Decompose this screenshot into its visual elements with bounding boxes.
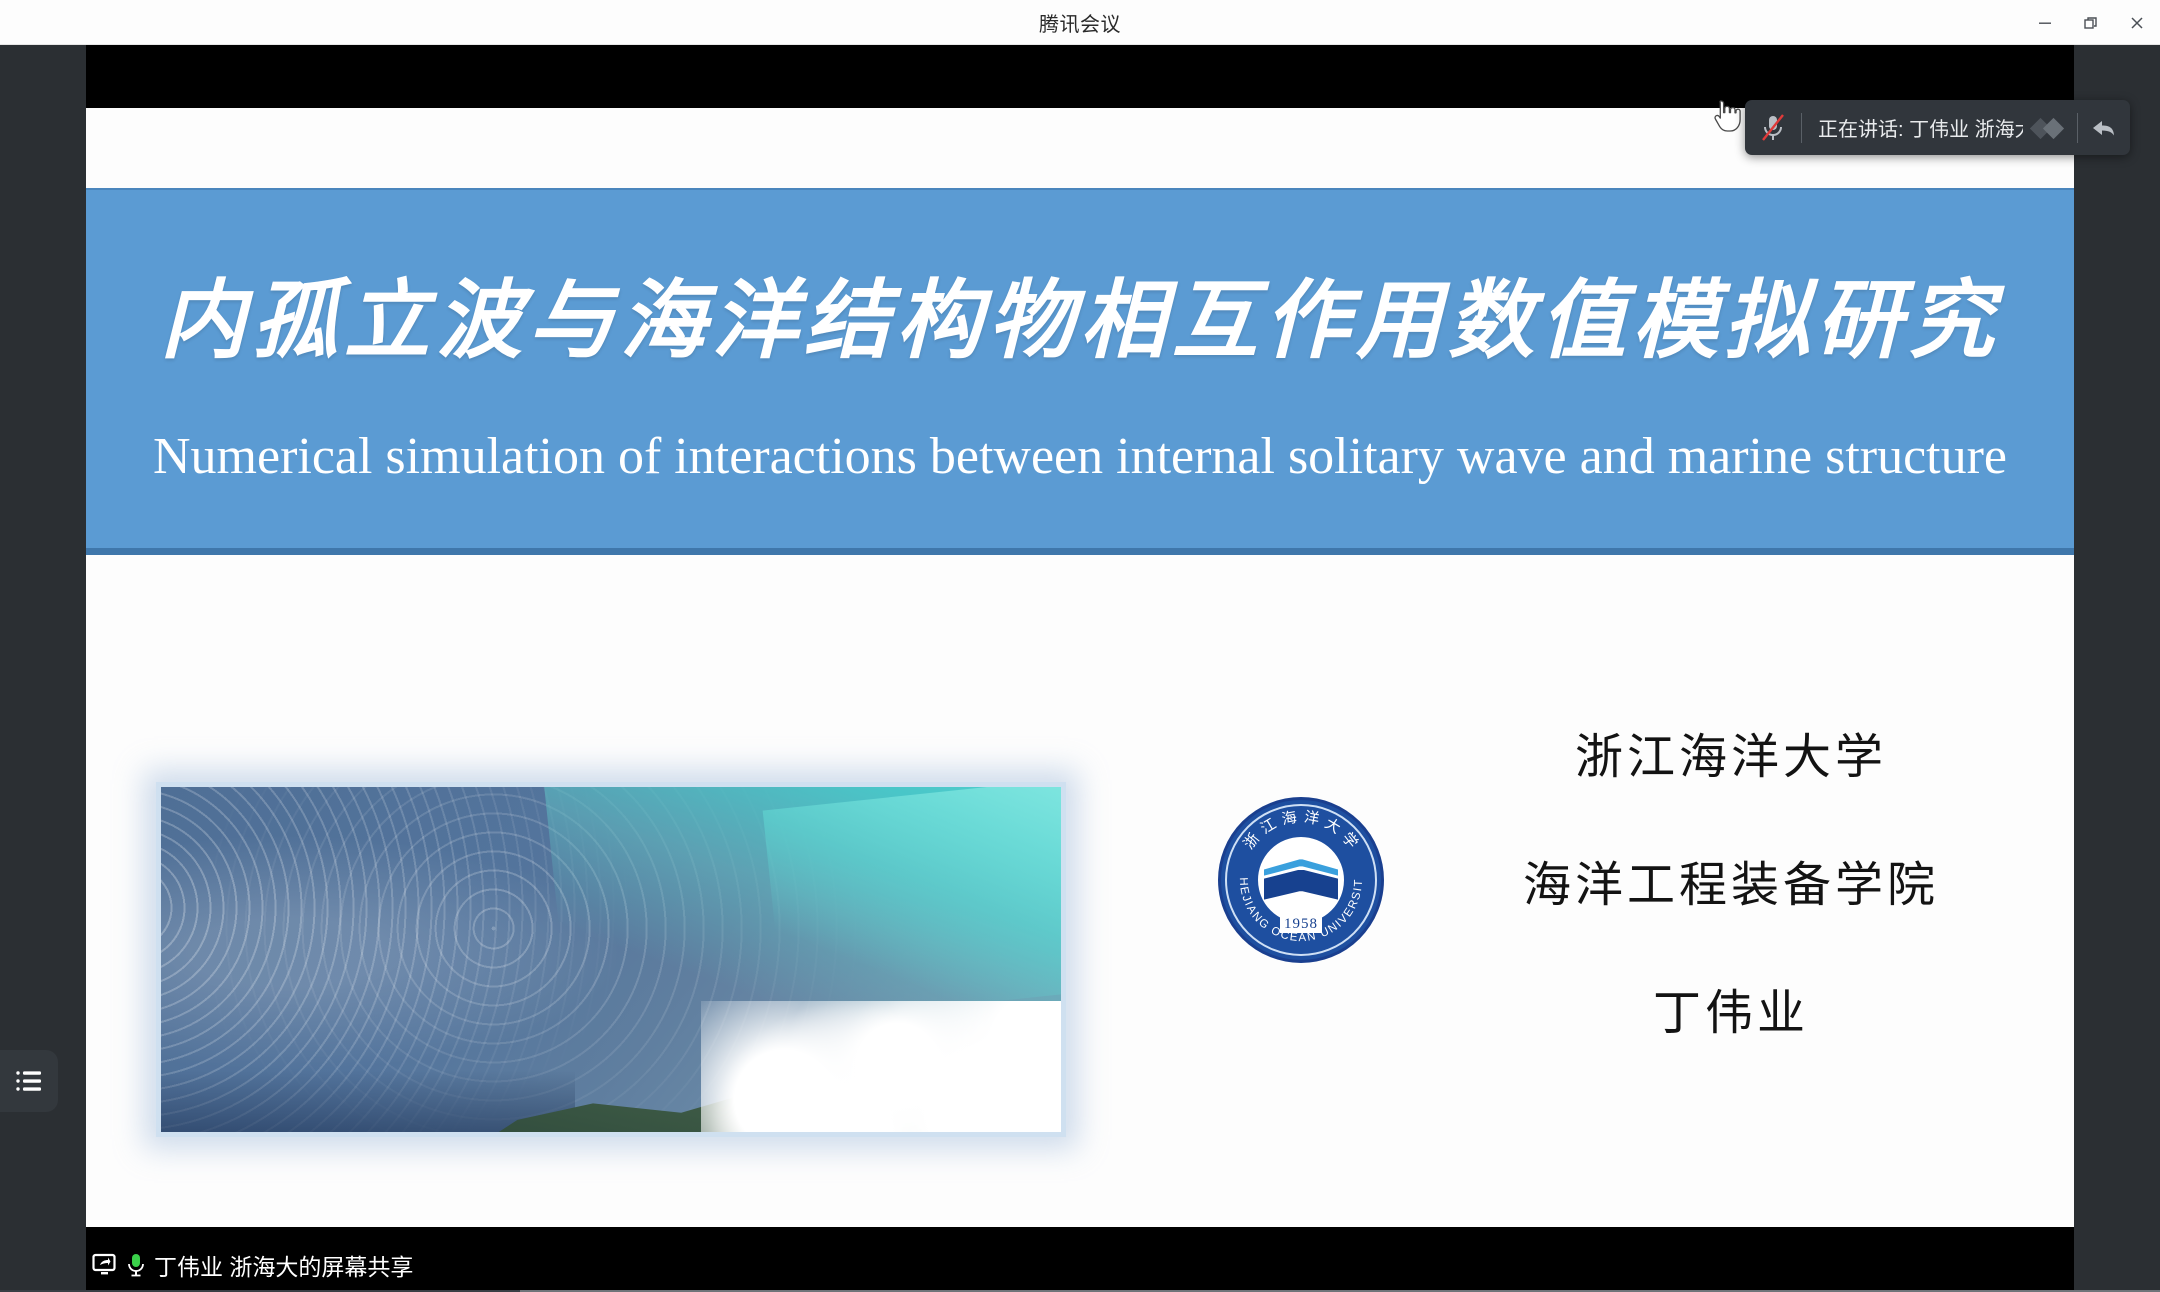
minimize-button[interactable] (2022, 0, 2068, 45)
affiliation-presenter: 丁伟业 (1653, 973, 1809, 1043)
collapse-diamond-icon (2030, 113, 2070, 143)
screen-share-label: 丁伟业 浙海大的屏幕共享 (154, 1248, 413, 1282)
presentation-slide: 内孤立波与海洋结构物相互作用数值模拟研究 Numerical simulatio… (86, 108, 2074, 1227)
right-chrome-rail (2074, 45, 2160, 1292)
deep-water-shading (161, 1070, 575, 1132)
affiliation-block: 浙 江 海 洋 大 学 ZHEJIANG OCEAN UNIVERSITY (1186, 717, 2046, 1043)
mic-mute-indicator[interactable] (1745, 112, 1801, 144)
shallow-water-shelf-bright (763, 787, 1061, 1023)
internal-solitary-wave-satellite-photo (161, 787, 1061, 1132)
seal-book-icon (1264, 854, 1338, 900)
affiliation-lines: 浙江海洋大学 海洋工程装备学院 丁伟业 (1416, 717, 2046, 1043)
speaking-label: 正在讲话: 丁伟业 浙海大; (1802, 113, 2023, 142)
outline-list-icon (14, 1068, 44, 1094)
shared-screen-letterbox-top (86, 45, 2074, 108)
restore-button[interactable] (2068, 0, 2114, 45)
window-titlebar: 腾讯会议 (0, 0, 2160, 45)
slide-body: 浙 江 海 洋 大 学 ZHEJIANG OCEAN UNIVERSITY (86, 562, 2074, 1227)
cloud-cover (701, 1001, 1061, 1132)
minimize-icon (2036, 14, 2054, 32)
floating-speaker-toolbar[interactable]: 正在讲话: 丁伟业 浙海大; (1745, 100, 2130, 155)
microphone-muted-icon (1758, 112, 1788, 144)
slide-title-english: Numerical simulation of interactions bet… (153, 427, 2007, 486)
seal-year: 1958 (1280, 916, 1322, 933)
pointing-hand-cursor (1709, 98, 1743, 138)
close-icon (2128, 14, 2146, 32)
screen-share-status-bar: 丁伟业 浙海大的屏幕共享 (86, 1227, 2074, 1292)
slide-title-band: 内孤立波与海洋结构物相互作用数值模拟研究 Numerical simulatio… (86, 188, 2074, 555)
slide-title-chinese: 内孤立波与海洋结构物相互作用数值模拟研究 (160, 274, 2000, 369)
affiliation-college: 海洋工程装备学院 (1523, 845, 1939, 915)
slide-image-frame (156, 782, 1066, 1137)
restore-icon (2082, 14, 2100, 32)
collapse-toolbar-button[interactable] (2023, 113, 2077, 143)
window-controls (2022, 0, 2160, 45)
seal-book-bottom (1264, 870, 1338, 900)
pointing-hand-cursor-icon (1709, 98, 1743, 138)
meeting-window: 腾讯会议 (0, 0, 2160, 1292)
window-title: 腾讯会议 (1039, 8, 1121, 37)
affiliation-university: 浙江海洋大学 (1575, 717, 1887, 787)
close-button[interactable] (2114, 0, 2160, 45)
back-arrow-icon (2089, 115, 2119, 141)
screen-share-icon (92, 1253, 118, 1277)
outline-toggle-button[interactable] (0, 1050, 58, 1112)
zhejiang-ocean-university-seal: 浙 江 海 洋 大 学 ZHEJIANG OCEAN UNIVERSITY (1218, 797, 1384, 963)
return-to-meeting-button[interactable] (2078, 115, 2130, 141)
shared-screen-region: 内孤立波与海洋结构物相互作用数值模拟研究 Numerical simulatio… (86, 45, 2074, 1227)
microphone-active-icon (126, 1252, 146, 1278)
